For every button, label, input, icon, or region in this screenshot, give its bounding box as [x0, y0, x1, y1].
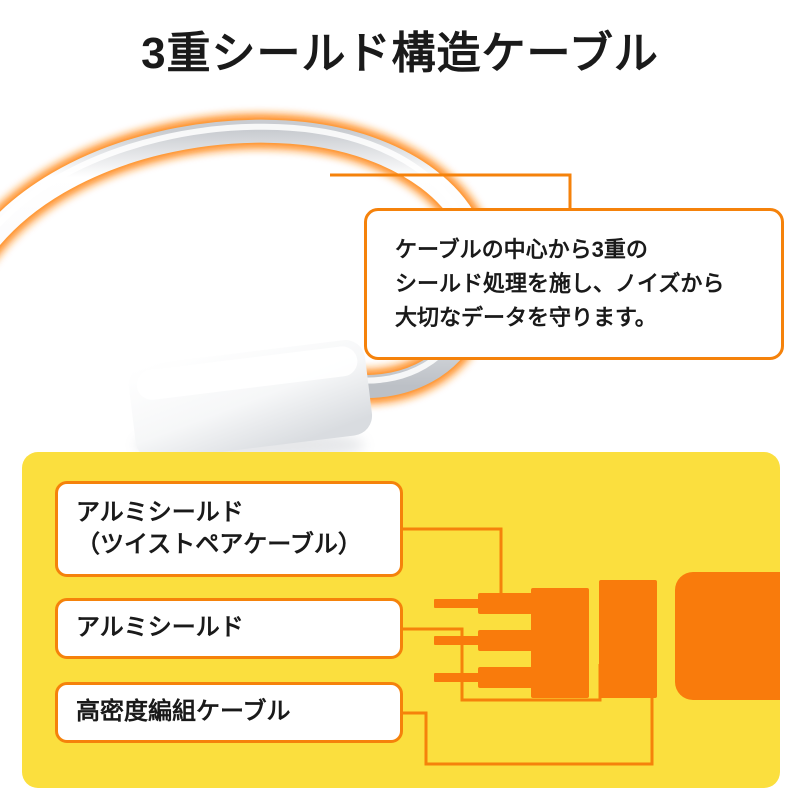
shield-label-aluminum: アルミシールド — [55, 598, 403, 659]
shield-label-text: アルミシールド — [58, 612, 244, 644]
shield-label-twisted-pair: アルミシールド （ツイストペアケーブル） — [55, 481, 403, 577]
outer-shield-block — [599, 580, 657, 698]
infographic-root: 3重シールド構造ケーブル — [0, 0, 800, 800]
callout-text: ケーブルの中心から3重の シールド処理を施し、ノイズから 大切なデータを守ります… — [367, 233, 724, 335]
callout-box: ケーブルの中心から3重の シールド処理を施し、ノイズから 大切なデータを守ります… — [364, 208, 784, 360]
braided-jacket-block — [675, 572, 780, 700]
shield-label-text: 高密度編組ケーブル — [58, 696, 291, 728]
shield-structure-panel: アルミシールド （ツイストペアケーブル） アルミシールド 高密度編組ケーブル — [22, 452, 780, 788]
inner-shield-block — [531, 588, 589, 698]
leader-line-twisted-pair — [403, 529, 501, 597]
shield-label-text: アルミシールド （ツイストペアケーブル） — [58, 497, 362, 562]
twisted-pair-wires — [434, 593, 533, 688]
shield-label-braided: 高密度編組ケーブル — [55, 682, 403, 743]
page-title: 3重シールド構造ケーブル — [0, 30, 800, 78]
